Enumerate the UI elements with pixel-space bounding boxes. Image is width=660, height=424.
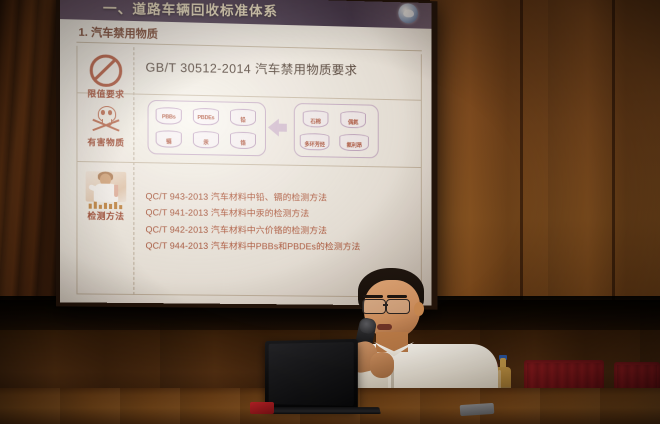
substance-label: PBDEs [193,115,219,122]
substance-cylinder: 氟利昂 [339,134,369,152]
substance-cylinder: 偶氮 [340,111,366,129]
laptop-screen [265,339,358,411]
row-label: 有害物质 [78,136,133,149]
substance-label: 多环芳烃 [300,140,330,149]
slide-section-title: 1. 汽车禁用物质 [78,24,157,42]
test-method-text: 汽车材料中六价铬的检测方法 [211,225,327,236]
left-arrow-stem [277,124,287,132]
row-icon-test-methods: 检测方法 [78,171,133,222]
projection-screen: 一、道路车辆回收标准体系 1. 汽车禁用物质 限值要求 有害物质 [60,0,431,306]
test-method-text: 汽车材料中PBBs和PBDEs的检测方法 [211,241,360,252]
test-method-code: QC/T 943-2013 [146,191,209,202]
row-icon-hazardous-substances: 有害物质 [78,104,133,148]
slide-banner-title: 一、道路车辆回收标准体系 [103,0,278,20]
organization-logo-icon [398,3,418,23]
row-label: 检测方法 [78,210,133,223]
substance-label: PBBs [156,114,182,121]
substance-group-heavy-metals: PBBs PBDEs 铅 镉 汞 [148,100,266,156]
skull-crossbones-icon [91,105,121,136]
presentation-photo: 一、道路车辆回收标准体系 1. 汽车禁用物质 限值要求 有害物质 [0,0,660,424]
eyeglasses-icon [386,299,410,314]
decorative-bars-icon [89,202,124,210]
test-method-list: QC/T 943-2013 汽车材料中铅、镉的检测方法 QC/T 941-201… [146,188,361,257]
substance-label: 氟利昂 [339,141,369,150]
column-divider [133,47,134,295]
substance-label: 石棉 [303,117,329,125]
substance-cylinder: 镉 [156,130,182,149]
substance-cylinder: PBDEs [193,108,219,127]
substance-label: 铬 [230,139,256,147]
substance-cylinder: 多环芳烃 [300,133,330,151]
substance-group-other: 石棉 偶氮 多环芳烃 氟利昂 [294,103,379,158]
test-method-item: QC/T 943-2013 汽车材料中铅、镉的检测方法 [146,189,361,204]
red-object-on-table [250,402,274,414]
presenter-mouth [377,324,392,330]
test-method-code: QC/T 944-2013 [146,241,209,251]
presenter-ear [414,302,424,316]
substance-cylinder: 铬 [230,132,256,150]
substance-label: 镉 [156,137,182,146]
eyeglasses-icon [362,299,386,314]
substance-cylinder: 汞 [193,131,219,150]
substance-cylinder: 铅 [230,109,256,128]
substance-cylinder: 石棉 [303,110,329,128]
row-icon-limit-requirements: 限值要求 [78,54,133,101]
test-method-item: QC/T 942-2013 汽车材料中六价铬的检测方法 [146,222,361,236]
test-method-text: 汽车材料中汞的检测方法 [211,208,309,219]
test-method-item: QC/T 944-2013 汽车材料中PBBs和PBDEs的检测方法 [146,239,361,253]
row-label: 限值要求 [78,87,133,100]
standard-title: GB/T 30512-2014 汽车禁用物质要求 [146,56,358,78]
substance-label: 汞 [193,138,219,147]
laboratory-icon [86,171,127,202]
test-method-item: QC/T 941-2013 汽车材料中汞的检测方法 [146,206,361,221]
prohibition-icon [90,54,123,87]
substance-label: 偶氮 [340,118,366,126]
slide-body: 1. 汽车禁用物质 限值要求 有害物质 [60,19,431,306]
substance-label: 铅 [230,116,256,125]
test-method-text: 汽车材料中铅、镉的检测方法 [211,192,327,203]
presenter-laptop [262,340,388,424]
substance-cylinder: PBBs [156,107,182,126]
test-method-code: QC/T 942-2013 [146,224,209,234]
mobile-phone [460,403,495,416]
test-method-code: QC/T 941-2013 [146,208,209,219]
